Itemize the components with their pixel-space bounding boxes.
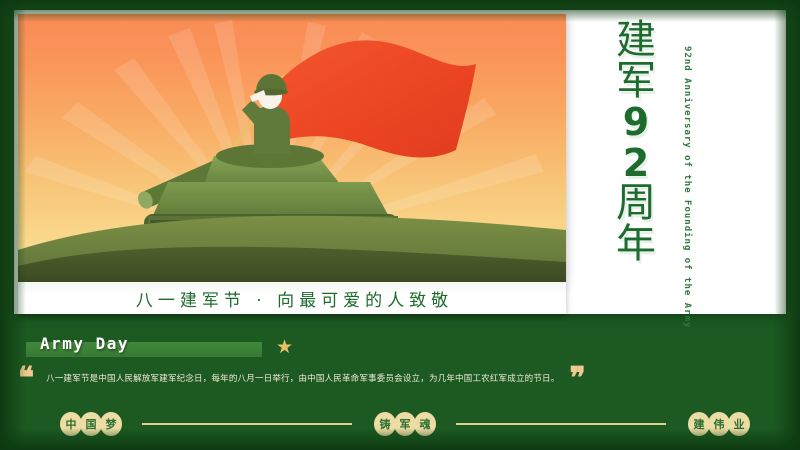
quote-close-icon: ❞: [569, 370, 585, 388]
illustration-panel: [18, 14, 566, 282]
quote-row: ❝ 八一建军节是中国人民解放军建军纪念日，每年的八月一日举行，由中国人民革命军事…: [18, 366, 598, 392]
title-char-jun: 军: [610, 61, 662, 102]
nav-badge-char: 伟: [708, 412, 730, 436]
star-icon: ★: [276, 338, 293, 357]
slogan-band: 八一建军节 · 向最可爱的人致敬: [18, 282, 566, 314]
army-day-label: Army Day: [40, 334, 129, 353]
title-digit-2: 2: [610, 143, 662, 183]
quote-text: 八一建军节是中国人民解放军建军纪念日，每年的八月一日举行，由中国人民革命军事委员…: [46, 373, 559, 386]
anniversary-title-cn: 建 军 9 2 周 年: [610, 20, 662, 265]
nav-badge-jianweiye[interactable]: 建 伟 业: [688, 412, 748, 436]
anniversary-title-en: 92nd Anniversary of the Founding of the …: [682, 46, 692, 328]
nav-badge-char: 魂: [414, 412, 436, 436]
nav-divider-line: [456, 423, 666, 425]
title-digit-9: 9: [610, 102, 662, 142]
army-day-row: Army Day ★: [26, 334, 326, 360]
tank-scene-svg: [18, 14, 566, 282]
slide-root: 八一建军节 · 向最可爱的人致敬 建 军 9 2 周 年 92nd Annive…: [0, 0, 800, 450]
nav-badge-zhujunhun[interactable]: 铸 军 魂: [374, 412, 434, 436]
nav-badge-char: 中: [60, 412, 82, 436]
nav-badge-char: 业: [728, 412, 750, 436]
nav-badge-zhongguomeng[interactable]: 中 国 梦: [60, 412, 120, 436]
quote-open-icon: ❝: [18, 370, 34, 388]
nav-badge-char: 建: [688, 412, 710, 436]
slogan-text: 八一建军节 · 向最可爱的人致敬: [131, 286, 453, 311]
nav-badge-char: 梦: [100, 412, 122, 436]
nav-divider-line: [142, 423, 352, 425]
nav-badge-char: 铸: [374, 412, 396, 436]
title-char-zhou: 周: [610, 183, 662, 224]
nav-badge-char: 军: [394, 412, 416, 436]
title-char-nian: 年: [610, 224, 662, 265]
nav-badge-char: 国: [80, 412, 102, 436]
anniversary-title-block: 建 军 9 2 周 年 92nd Anniversary of the Foun…: [596, 20, 726, 290]
title-char-jian: 建: [610, 20, 662, 61]
bottom-nav: 中 国 梦 铸 军 魂 建 伟 业: [0, 404, 800, 444]
